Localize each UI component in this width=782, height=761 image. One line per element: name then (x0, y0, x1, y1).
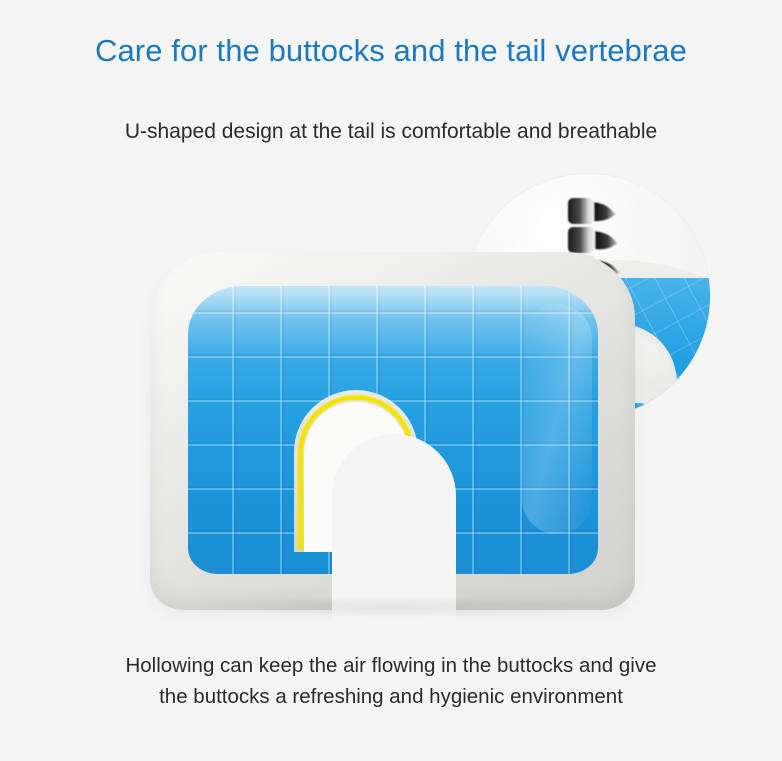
caption-text: Hollowing can keep the air flowing in th… (0, 650, 782, 712)
marketing-banner: Care for the buttocks and the tail verte… (0, 0, 782, 761)
product-photo-stage (0, 160, 782, 630)
page-title: Care for the buttocks and the tail verte… (0, 33, 782, 69)
caption-line-2: the buttocks a refreshing and hygienic e… (0, 681, 782, 712)
gel-seat-cushion (150, 252, 635, 610)
subtitle-text: U-shaped design at the tail is comfortab… (0, 120, 782, 144)
cushion-drop-shadow (170, 596, 620, 618)
gel-side-sheen (522, 304, 592, 534)
caption-line-1: Hollowing can keep the air flowing in th… (0, 650, 782, 681)
